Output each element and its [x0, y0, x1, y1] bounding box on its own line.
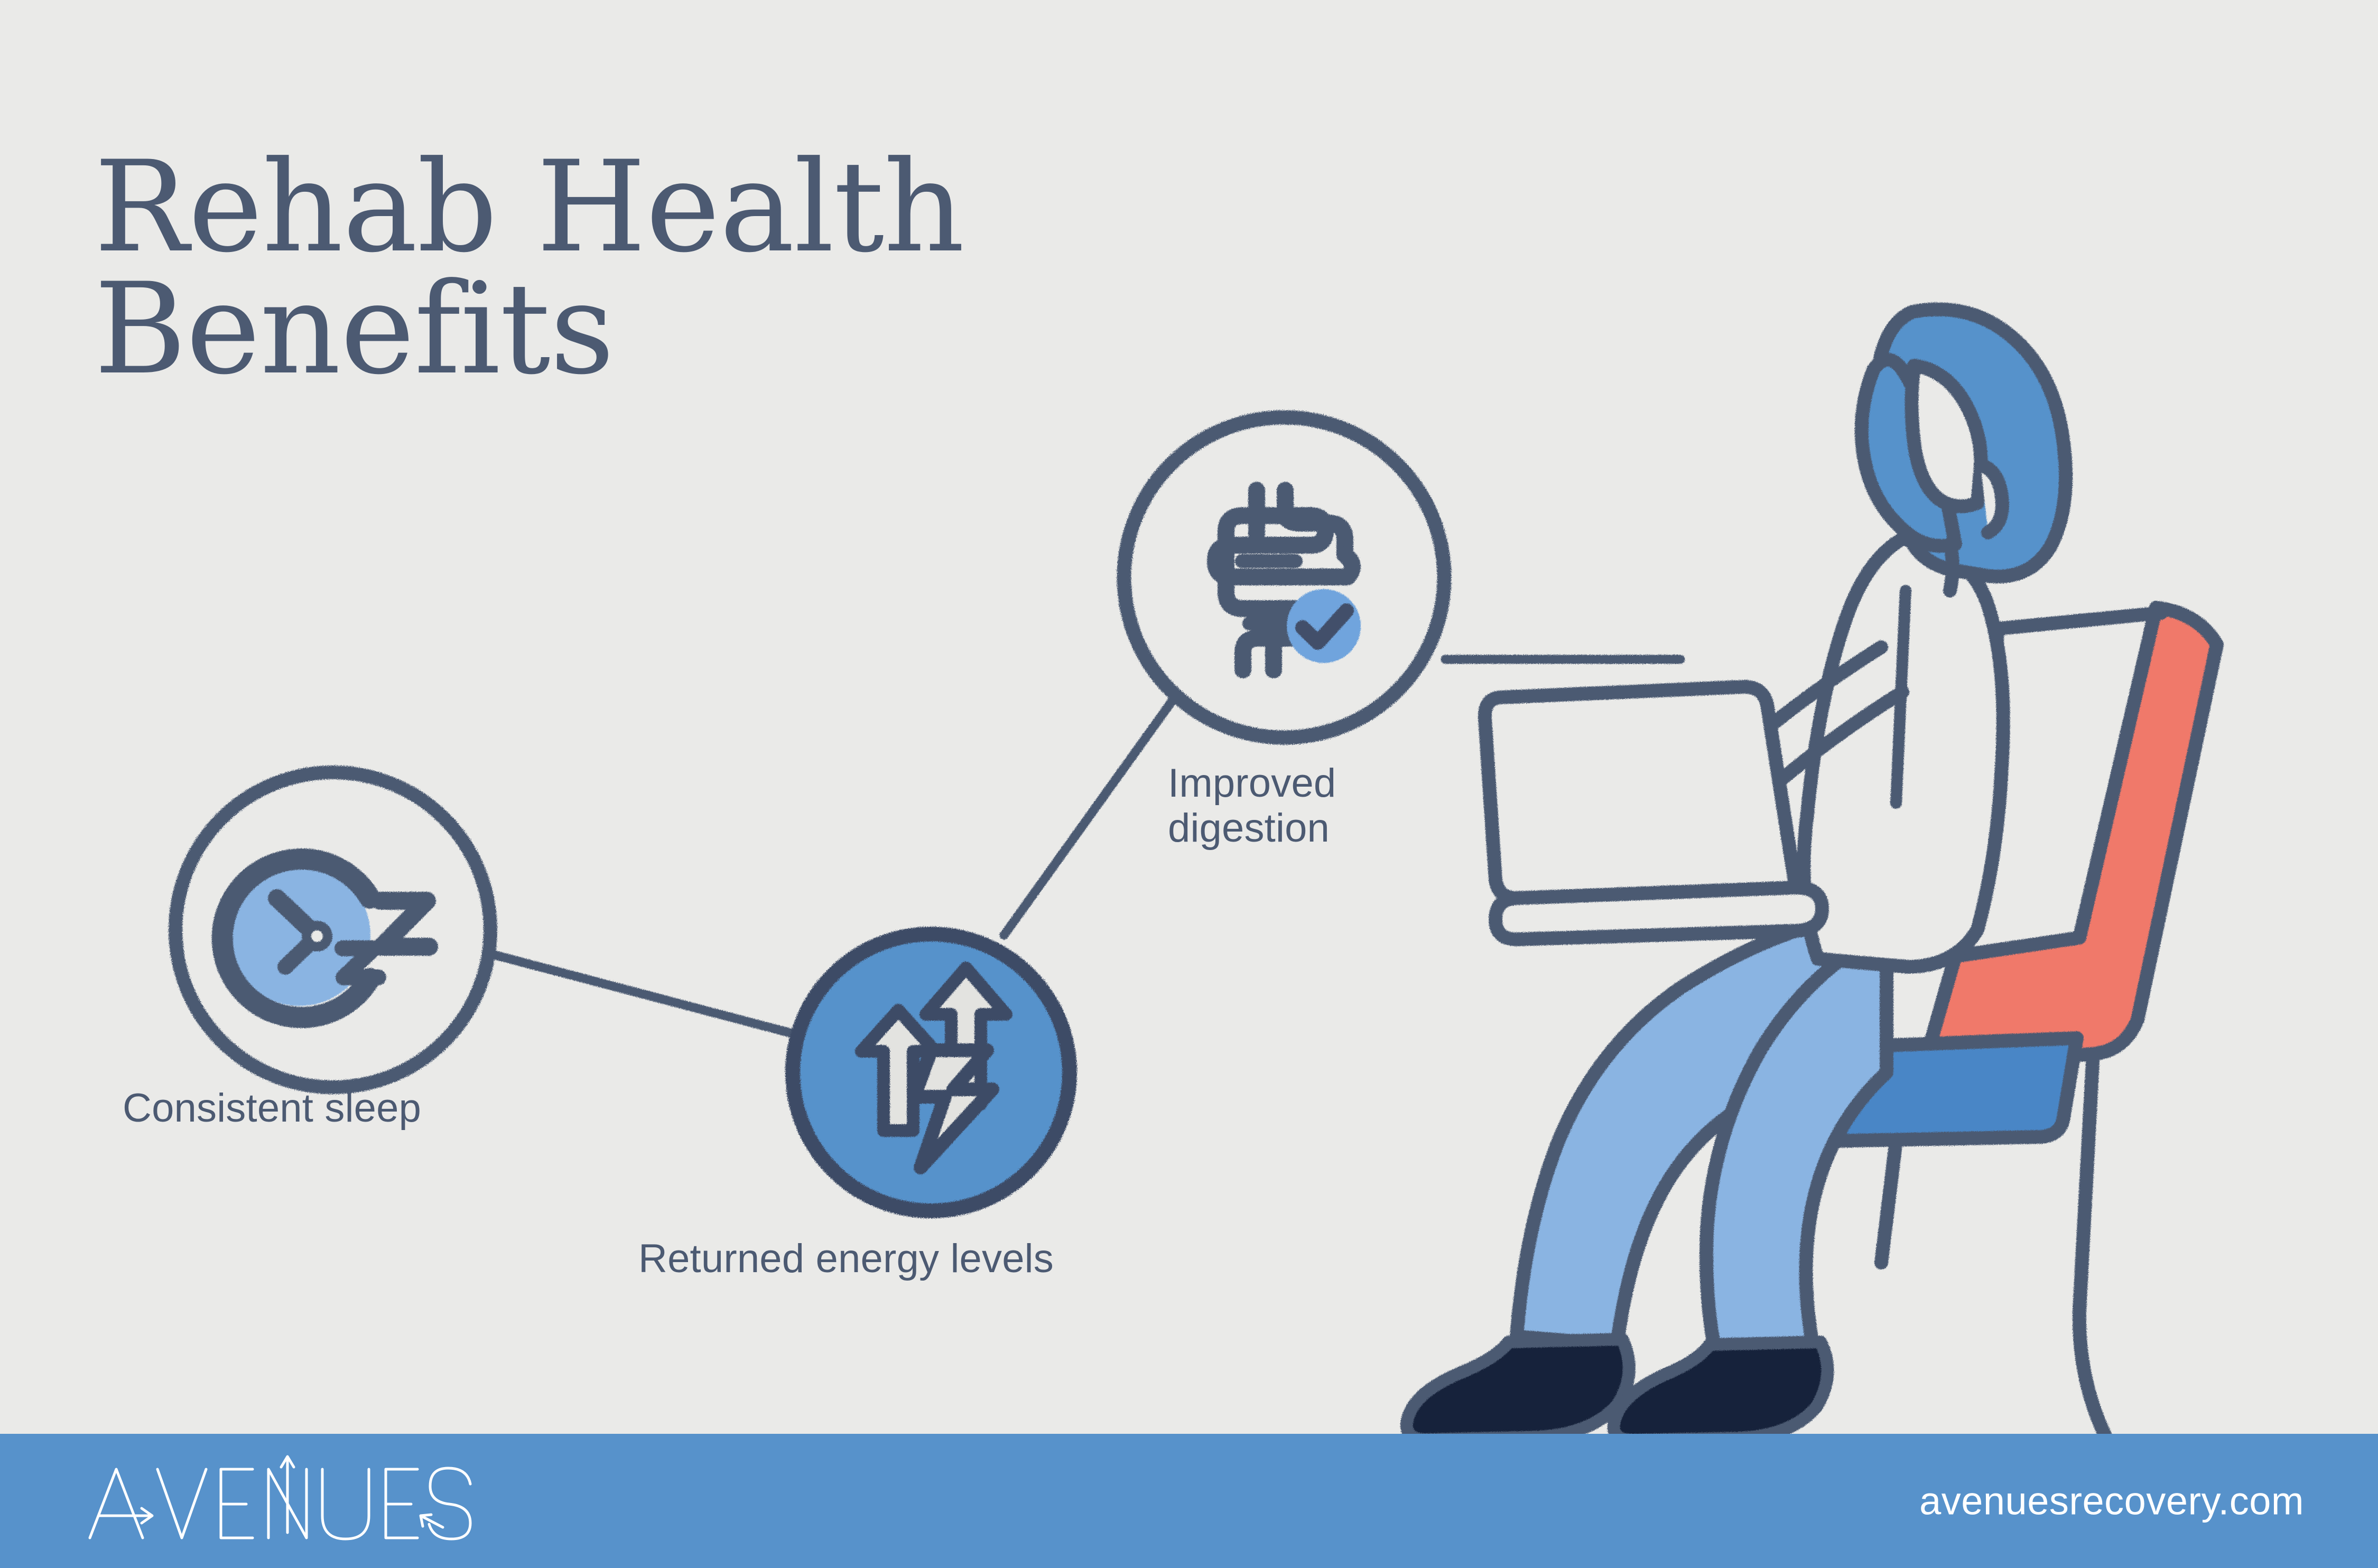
person-illustration: [1407, 310, 2217, 1440]
footer-bar: avenuesrecovery.com: [0, 1434, 2378, 1568]
connector-energy-to-digestion: [1004, 692, 1178, 935]
node-label-sleep: Consistent sleep: [123, 1086, 421, 1131]
node-digestion[interactable]: [1124, 417, 1444, 738]
check-badge-icon: [1287, 589, 1361, 663]
page-title-line-1: Rehab Health: [94, 147, 1204, 269]
node-label-digestion: Improved digestion: [1168, 761, 1336, 851]
page-title-line-2: Benefits: [94, 269, 1204, 391]
page-title: Rehab Health Benefits: [94, 147, 1204, 391]
avenues-wordmark-logo[interactable]: [78, 1453, 512, 1548]
node-sleep[interactable]: [175, 772, 490, 1087]
footer-url[interactable]: avenuesrecovery.com: [1919, 1479, 2304, 1524]
node-energy[interactable]: [793, 934, 1070, 1211]
node-label-energy: Returned energy levels: [638, 1236, 1054, 1281]
torso-shirt: [1804, 539, 2003, 967]
legs-jeans: [1517, 914, 1887, 1350]
shoes: [1407, 1339, 1828, 1440]
laptop: [1485, 687, 1822, 939]
infographic-canvas: Rehab Health Benefits Consistent sleep R…: [0, 0, 2378, 1568]
connector-sleep-to-energy: [491, 954, 790, 1033]
